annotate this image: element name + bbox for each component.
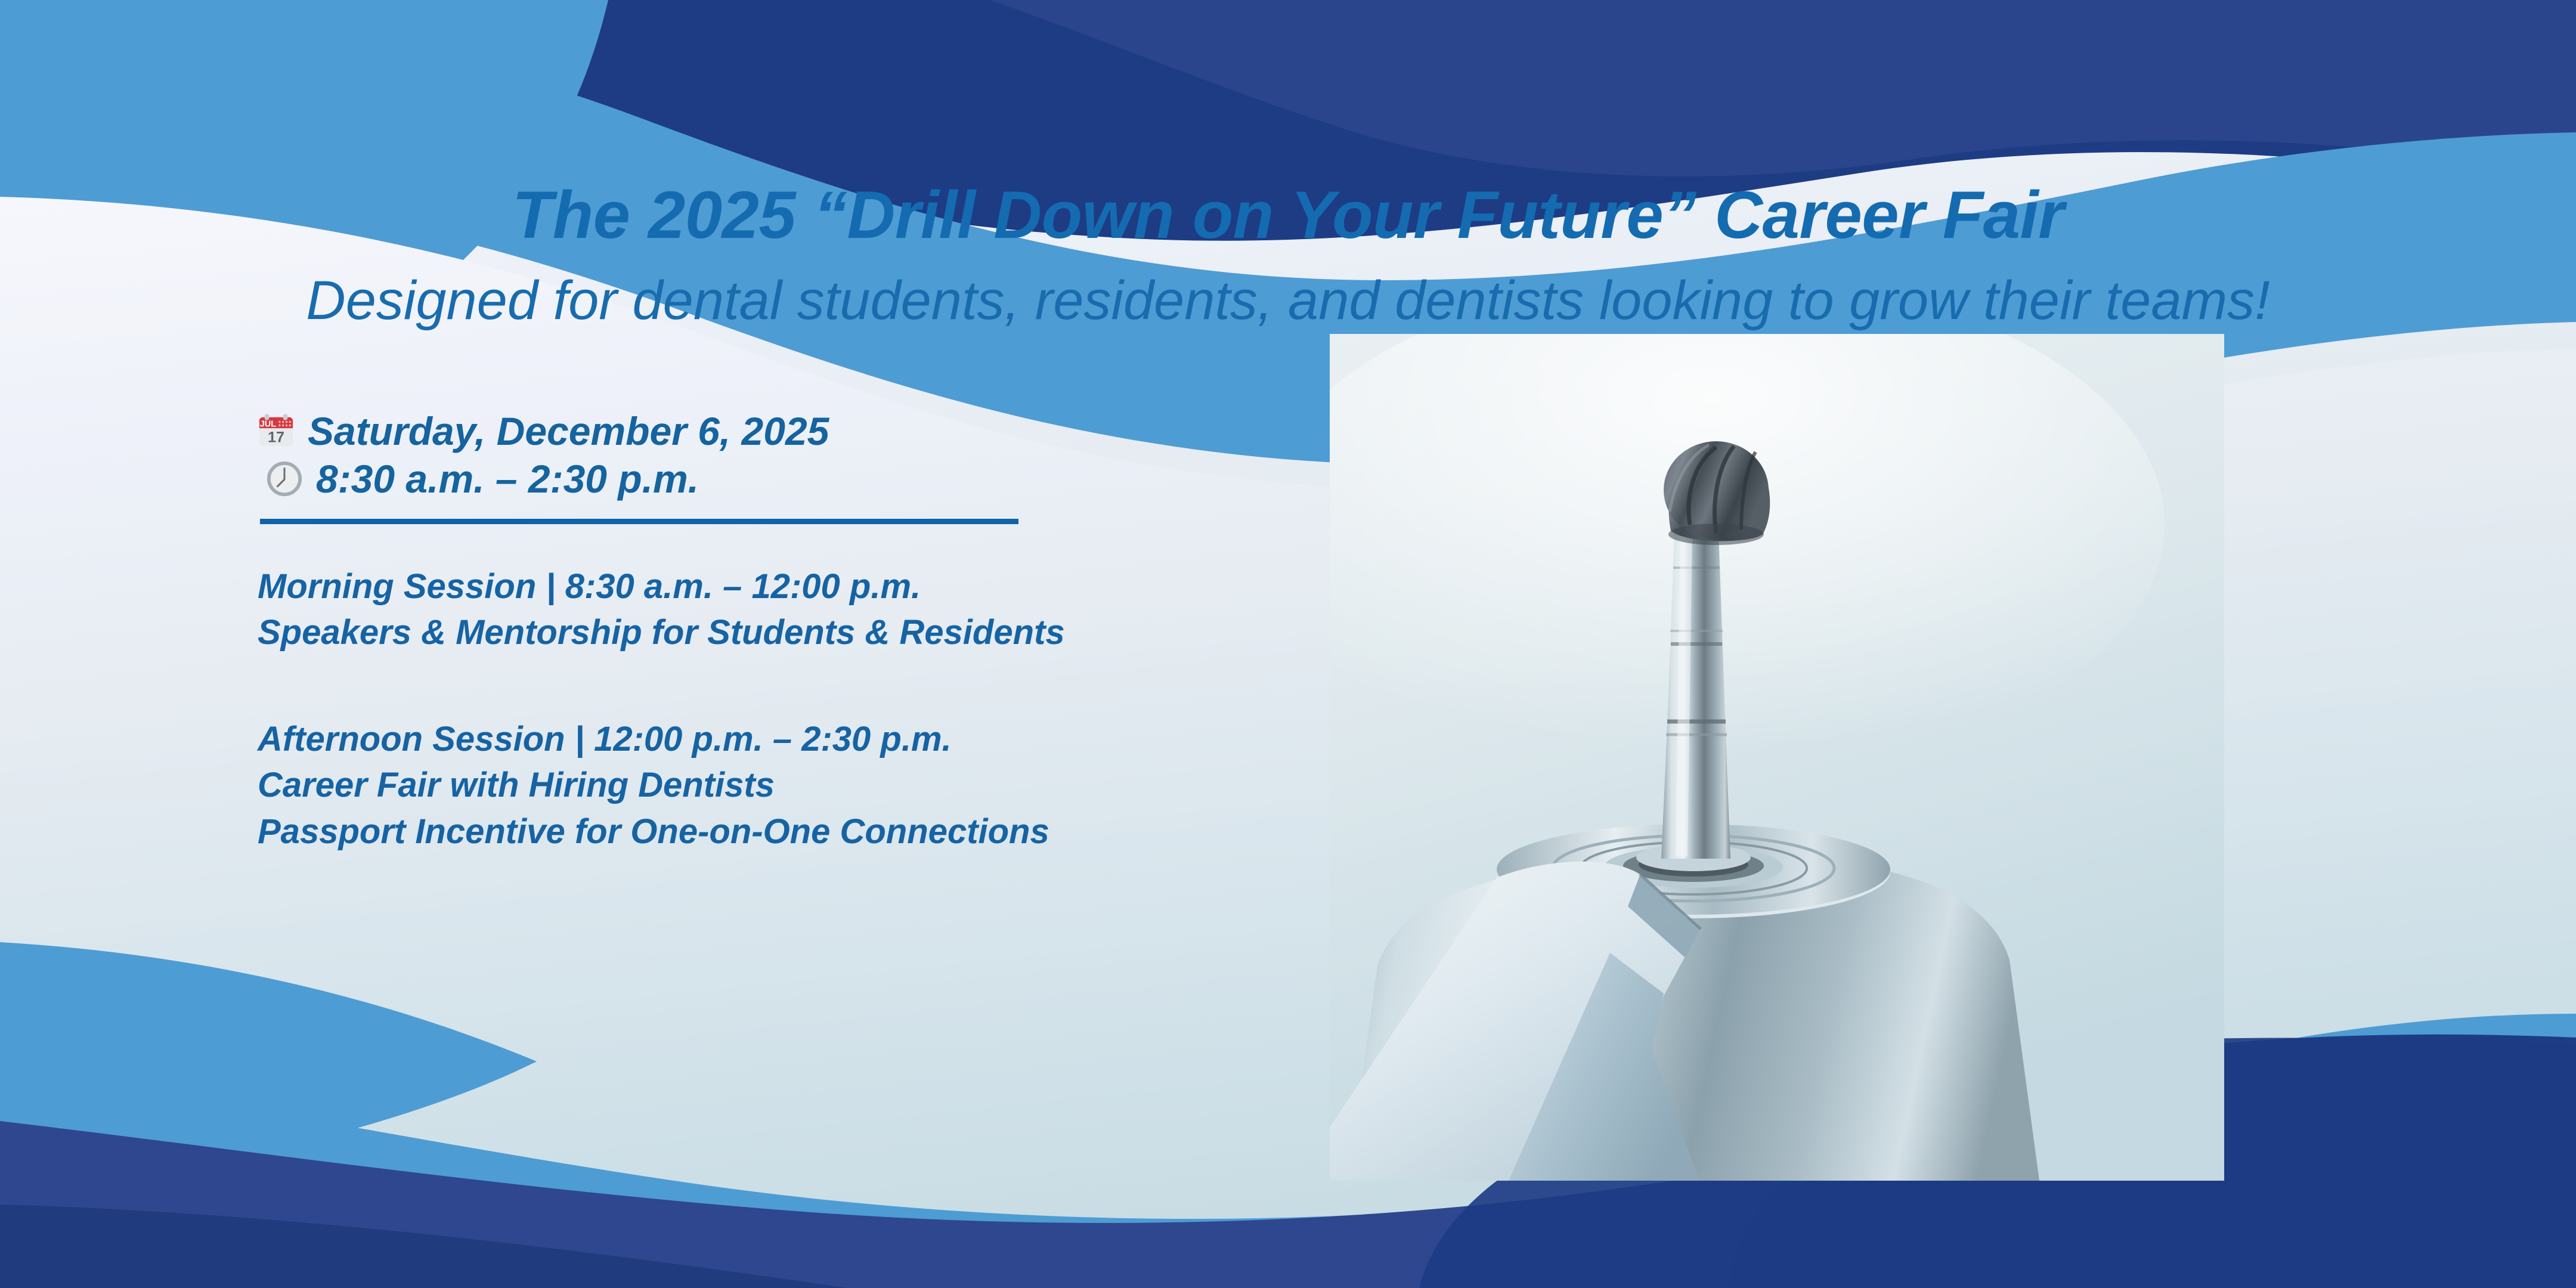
event-time-text: 8:30 a.m. – 2:30 p.m. [316, 459, 699, 499]
event-date-row: JUL 17 Saturday, December 6, 2025 [258, 411, 1450, 451]
morning-session-block: Morning Session | 8:30 a.m. – 12:00 p.m.… [258, 563, 1450, 655]
event-time-row: 8:30 a.m. – 2:30 p.m. [258, 459, 1450, 499]
afternoon-session-heading: Afternoon Session | 12:00 p.m. – 2:30 p.… [258, 716, 1450, 762]
clock-icon [266, 460, 303, 497]
page-title: The 2025 “Drill Down on Your Future” Car… [0, 177, 2576, 253]
svg-text:JUL: JUL [260, 419, 277, 429]
page-subtitle: Designed for dental students, residents,… [0, 270, 2576, 332]
event-details: JUL 17 Saturday, December 6, 2025 [258, 411, 1450, 854]
section-divider [260, 519, 1018, 524]
event-date-text: Saturday, December 6, 2025 [308, 411, 829, 451]
svg-text:17: 17 [268, 429, 284, 445]
afternoon-session-block: Afternoon Session | 12:00 p.m. – 2:30 p.… [258, 716, 1450, 854]
banner-content: The 2025 “Drill Down on Your Future” Car… [0, 0, 2576, 1288]
afternoon-session-line-1: Career Fair with Hiring Dentists [258, 762, 1450, 808]
morning-session-heading: Morning Session | 8:30 a.m. – 12:00 p.m. [258, 563, 1450, 609]
event-banner: The 2025 “Drill Down on Your Future” Car… [0, 0, 2576, 1288]
afternoon-session-line-2: Passport Incentive for One-on-One Connec… [258, 809, 1450, 854]
calendar-icon: JUL 17 [258, 413, 295, 450]
morning-session-line-1: Speakers & Mentorship for Students & Res… [258, 609, 1450, 655]
